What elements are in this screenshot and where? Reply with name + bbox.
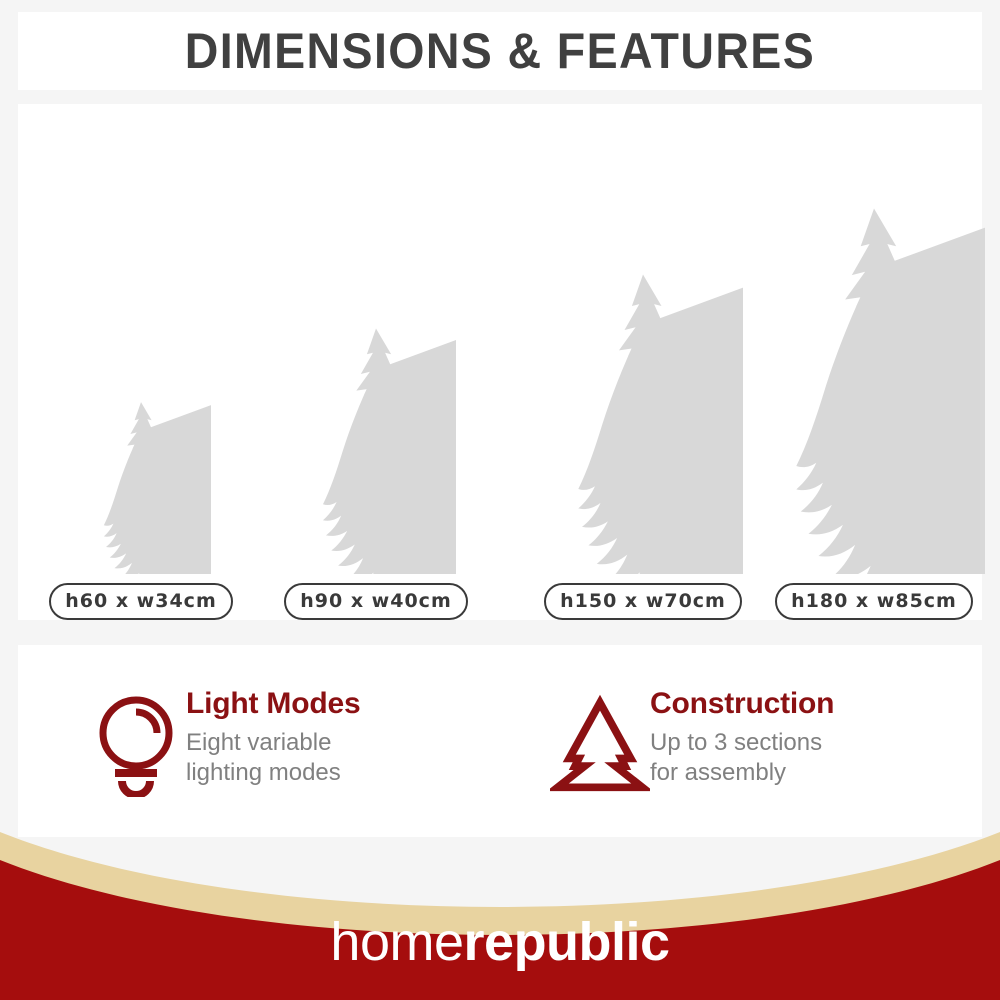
feature-title: Light Modes [186, 687, 360, 722]
size-label: h60 x w34cm [49, 583, 233, 620]
footer: homerepublic [0, 820, 1000, 1000]
feature-description-line2: lighting modes [186, 758, 360, 789]
feature-description-line1: Eight variable [186, 728, 360, 759]
infographic-root: DIMENSIONS & FEATURES h60 x w34cm [0, 0, 1000, 1000]
feature-description-line1: Up to 3 sections [650, 728, 834, 759]
size-label: h90 x w40cm [284, 583, 468, 620]
brand-logo-text: homerepublic [330, 911, 669, 973]
size-label: h180 x w85cm [775, 583, 973, 620]
feature-text: Construction Up to 3 sections for assemb… [650, 685, 834, 789]
page-title: DIMENSIONS & FEATURES [185, 22, 815, 80]
fir-tree-silhouette-icon [71, 399, 211, 574]
feature-text: Light Modes Eight variable lighting mode… [186, 685, 360, 789]
brand-logo-home: home [330, 912, 463, 972]
size-option-2[interactable]: h90 x w40cm [270, 324, 482, 620]
size-label: h150 x w70cm [544, 583, 742, 620]
size-chart: h60 x w34cm h90 x w40cm [18, 104, 982, 620]
brand-logo[interactable]: homerepublic [0, 820, 1000, 1000]
lightbulb-icon [86, 685, 186, 797]
features-panel: Light Modes Eight variable lighting mode… [18, 645, 982, 837]
feature-description: Up to 3 sections for assembly [650, 728, 834, 789]
feature-title: Construction [650, 687, 834, 722]
size-option-1[interactable]: h60 x w34cm [46, 399, 236, 620]
fir-tree-silhouette-icon [543, 269, 743, 574]
feature-construction[interactable]: Construction Up to 3 sections for assemb… [538, 685, 982, 797]
dimensions-panel: h60 x w34cm h90 x w40cm [18, 104, 982, 620]
size-option-4[interactable]: h180 x w85cm [766, 196, 982, 620]
tree-outline-icon [550, 685, 650, 797]
feature-light-modes[interactable]: Light Modes Eight variable lighting mode… [18, 685, 538, 797]
feature-description: Eight variable lighting modes [186, 728, 360, 789]
feature-description-line2: for assembly [650, 758, 834, 789]
header-panel: DIMENSIONS & FEATURES [18, 12, 982, 90]
size-option-3[interactable]: h150 x w70cm [508, 269, 778, 620]
fir-tree-silhouette-icon [763, 196, 985, 574]
fir-tree-silhouette-icon [296, 324, 456, 574]
brand-logo-republic: republic [464, 912, 670, 972]
